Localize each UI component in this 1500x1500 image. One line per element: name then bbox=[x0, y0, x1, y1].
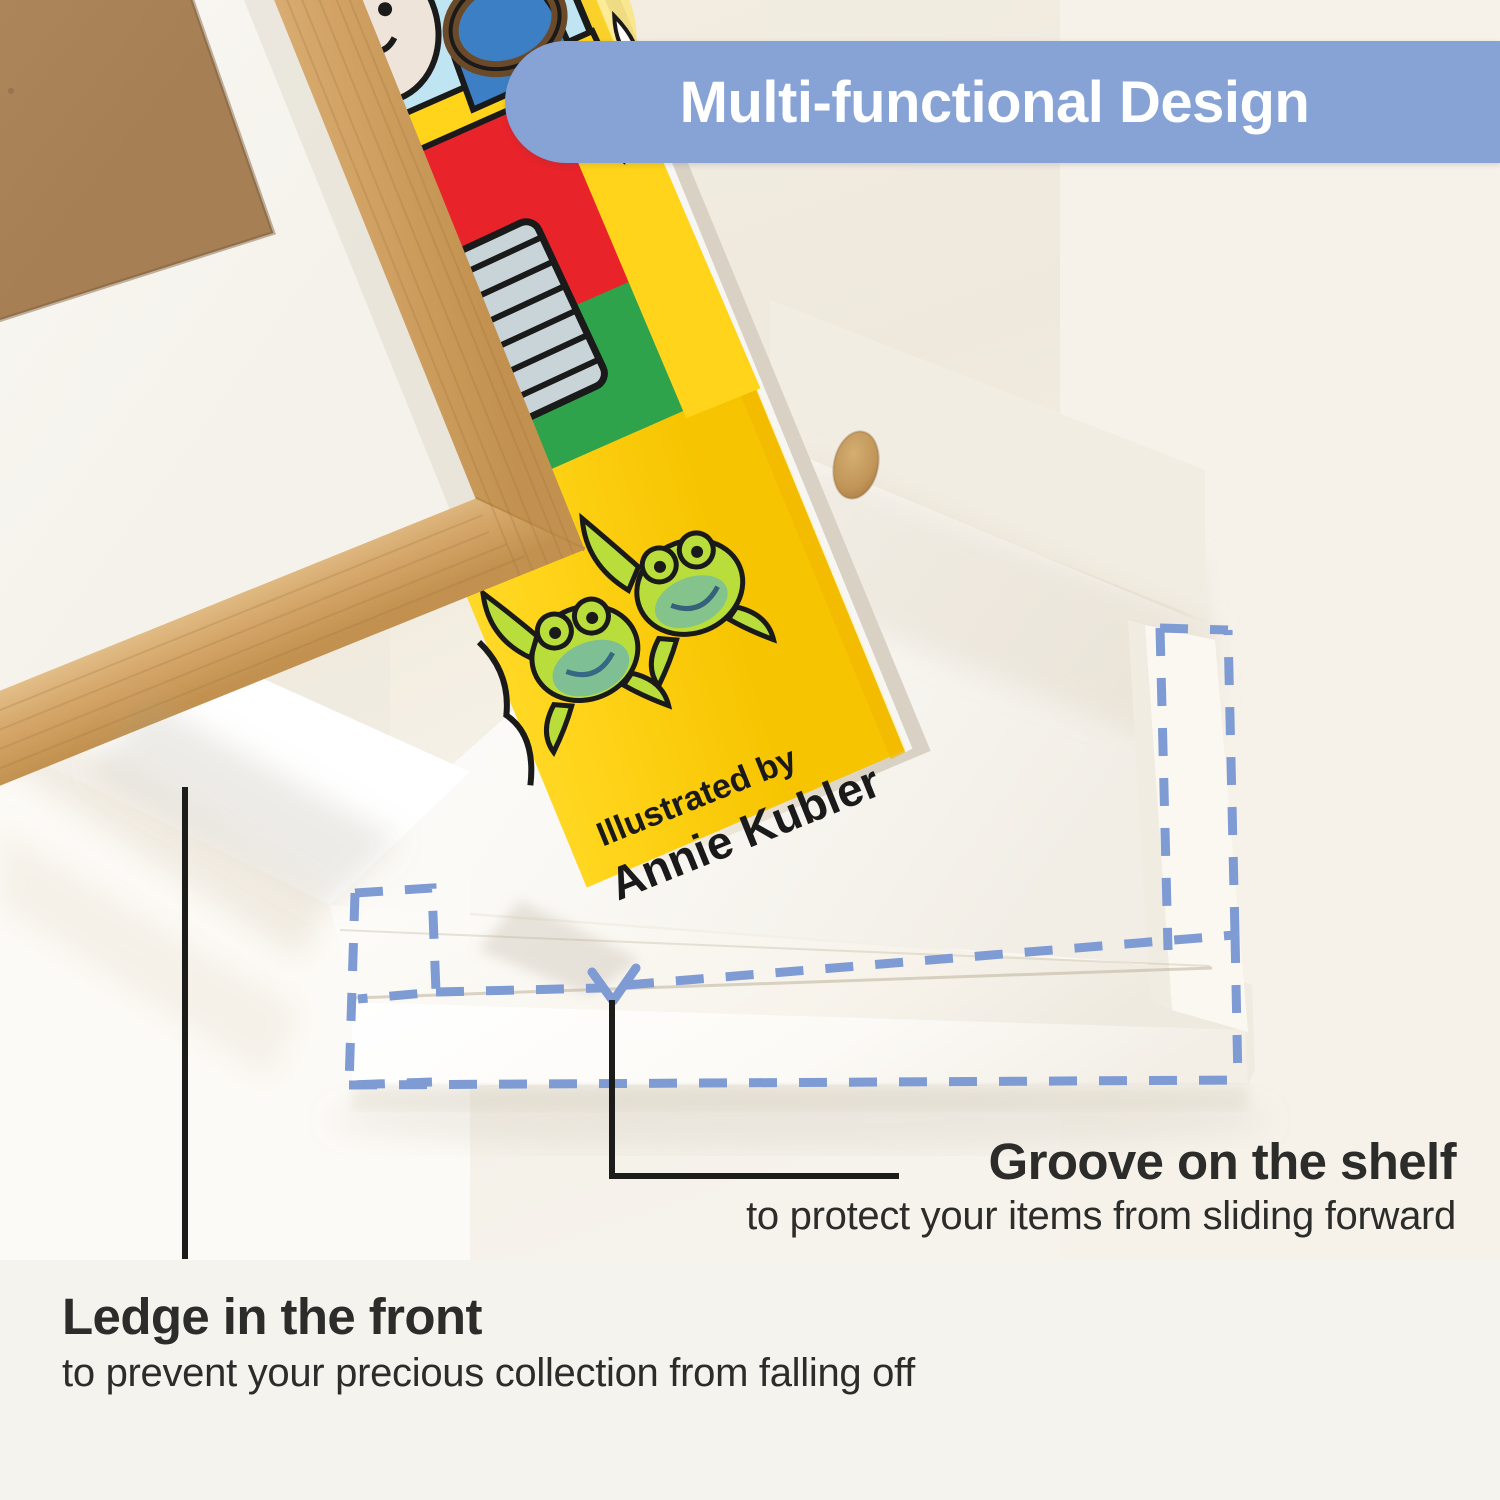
product-photo: Illustrated by Annie Kubler bbox=[0, 0, 1500, 1260]
callout-groove-title: Groove on the shelf bbox=[746, 1134, 1456, 1190]
banner-title: Multi-functional Design bbox=[680, 69, 1326, 136]
product-feature-image: Illustrated by Annie Kubler bbox=[0, 0, 1500, 1500]
callout-ledge-title: Ledge in the front bbox=[62, 1288, 915, 1346]
callout-ledge-subtitle: to prevent your precious collection from… bbox=[62, 1346, 915, 1400]
callout-groove: Groove on the shelf to protect your item… bbox=[746, 1134, 1456, 1242]
callout-groove-subtitle: to protect your items from sliding forwa… bbox=[746, 1190, 1456, 1242]
feature-banner: Multi-functional Design bbox=[505, 41, 1500, 163]
callout-ledge: Ledge in the front to prevent your preci… bbox=[62, 1288, 915, 1400]
